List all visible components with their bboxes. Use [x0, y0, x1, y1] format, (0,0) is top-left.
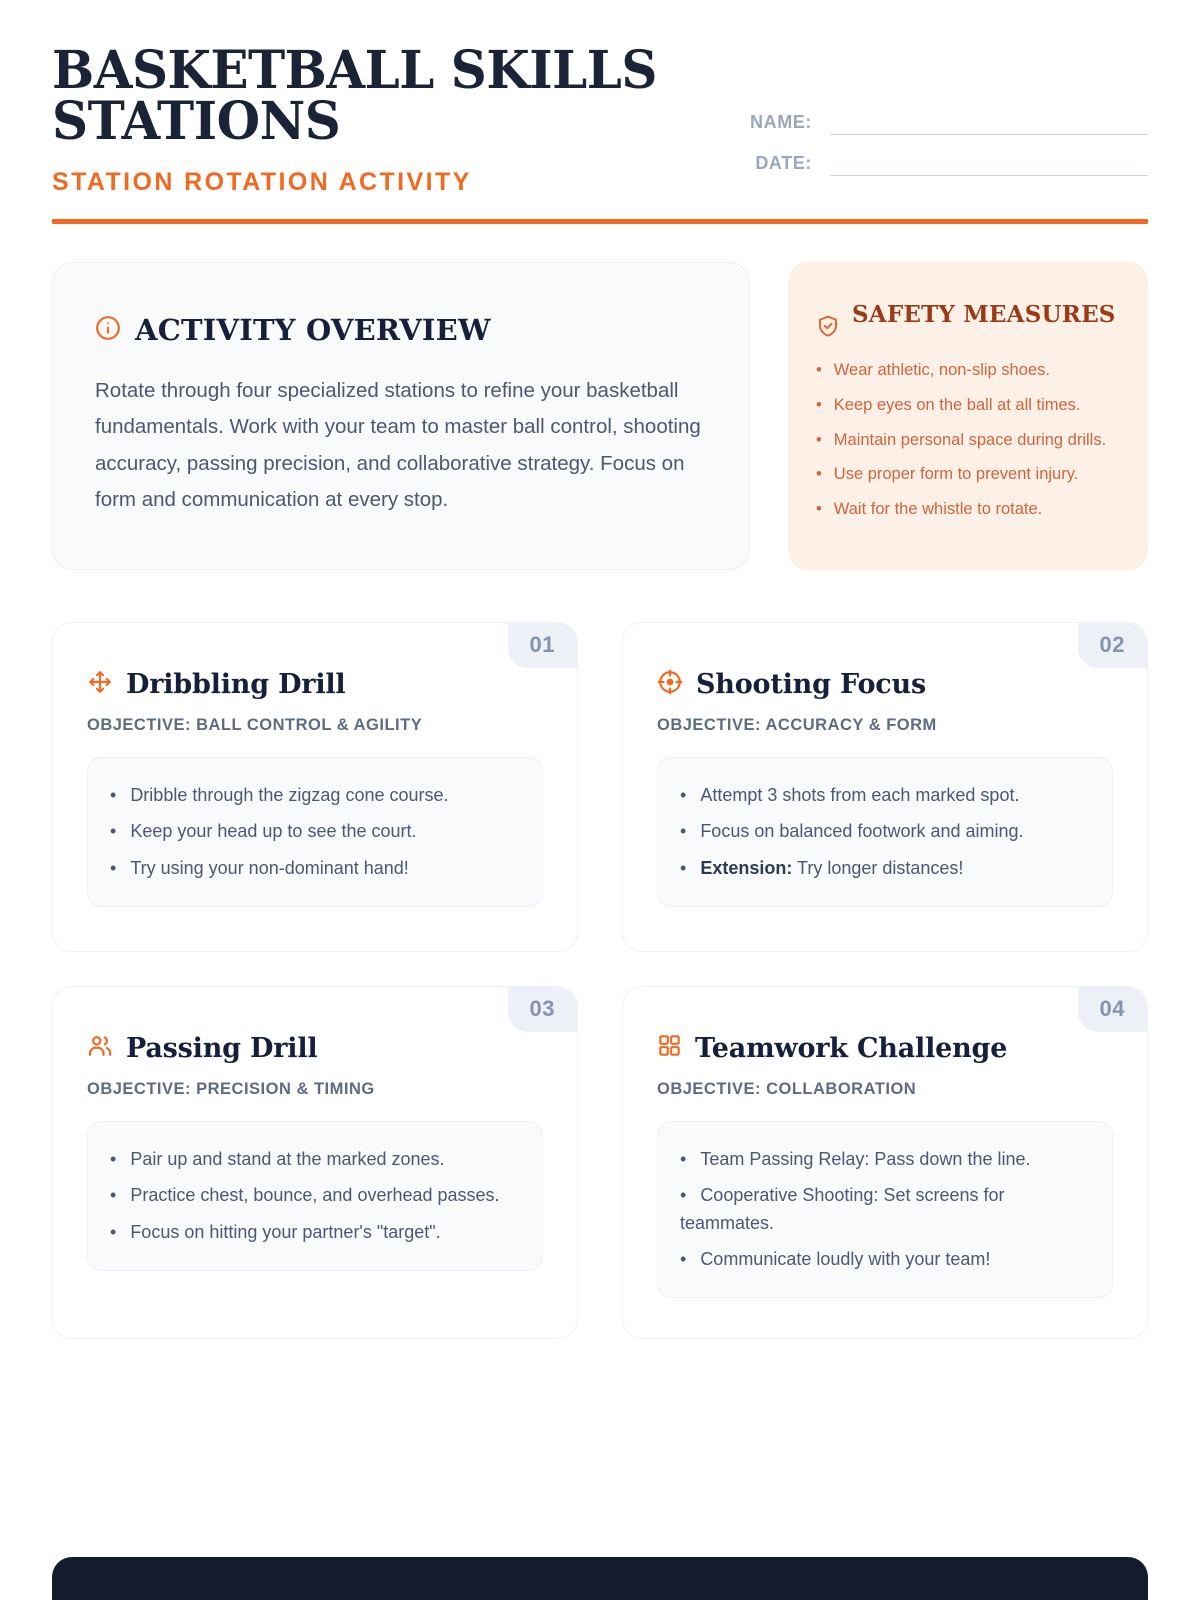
bullet-glyph: • [680, 1249, 686, 1269]
move-arrows-icon [87, 669, 113, 700]
bullet-glyph: • [680, 1149, 686, 1169]
station-header: Shooting Focus [657, 669, 1113, 700]
station-objective: OBJECTIVE: COLLABORATION [657, 1080, 1113, 1099]
date-field-label: DATE: [755, 153, 812, 176]
bullet-glyph: • [680, 821, 686, 841]
list-item-text: Try using your non-dominant hand! [130, 858, 409, 878]
bullet-glyph: • [816, 500, 822, 518]
list-item: •Try using your non-dominant hand! [110, 855, 520, 882]
bullet-glyph: • [680, 858, 686, 878]
bullet-glyph: • [110, 1185, 116, 1205]
list-item: •Wear athletic, non-slip shoes. [816, 359, 1120, 383]
station-instructions-box: •Team Passing Relay: Pass down the line.… [657, 1121, 1113, 1298]
activity-overview-body: Rotate through four specialized stations… [95, 373, 707, 519]
station-header: Teamwork Challenge [657, 1033, 1113, 1064]
station-number-badge: 04 [1078, 987, 1147, 1032]
list-item-text: Focus on hitting your partner's "target"… [130, 1222, 440, 1242]
bullet-glyph: • [110, 1149, 116, 1169]
list-item: •Communicate loudly with your team! [680, 1246, 1090, 1273]
list-item: •Team Passing Relay: Pass down the line. [680, 1146, 1090, 1173]
shield-check-icon [816, 314, 840, 343]
list-item: •Keep eyes on the ball at all times. [816, 394, 1120, 418]
list-item-text: Use proper form to prevent injury. [834, 465, 1079, 483]
name-field-row: NAME: [748, 112, 1148, 135]
station-grid: 01 Dribbling Drill OBJECTIVE: BALL CONTR… [52, 622, 1148, 1339]
date-field-row: DATE: [748, 153, 1148, 176]
list-item-text: Maintain personal space during drills. [834, 431, 1106, 449]
station-title: Teamwork Challenge [695, 1033, 1007, 1064]
users-icon [87, 1033, 113, 1064]
station-instructions-list: •Dribble through the zigzag cone course.… [110, 782, 520, 882]
bullet-glyph: • [816, 465, 822, 483]
page-title: BASKETBALL SKILLS STATIONS [52, 46, 686, 148]
list-item-text: Try longer distances! [792, 858, 963, 878]
bullet-glyph: • [110, 785, 116, 805]
list-item-text: Focus on balanced footwork and aiming. [700, 821, 1023, 841]
station-card-01: 01 Dribbling Drill OBJECTIVE: BALL CONTR… [52, 622, 578, 952]
station-number-badge: 01 [508, 623, 577, 668]
safety-measures-list: •Wear athletic, non-slip shoes. •Keep ey… [816, 359, 1120, 522]
list-item: •Keep your head up to see the court. [110, 818, 520, 845]
page-subtitle: STATION ROTATION ACTIVITY [52, 168, 712, 197]
list-item-text: Wait for the whistle to rotate. [834, 500, 1042, 518]
station-instructions-list: •Attempt 3 shots from each marked spot. … [680, 782, 1090, 882]
bullet-glyph: • [816, 396, 822, 414]
footer-bar [52, 1557, 1148, 1600]
list-item: •Pair up and stand at the marked zones. [110, 1146, 520, 1173]
list-item: •Wait for the whistle to rotate. [816, 498, 1120, 522]
activity-overview-heading: ACTIVITY OVERVIEW [135, 313, 491, 347]
station-header: Dribbling Drill [87, 669, 543, 700]
bullet-glyph: • [816, 431, 822, 449]
list-item: •Dribble through the zigzag cone course. [110, 782, 520, 809]
list-item-text: Keep eyes on the ball at all times. [834, 396, 1081, 414]
name-field-label: NAME: [750, 112, 812, 135]
station-number-badge: 02 [1078, 623, 1147, 668]
list-item-text: Keep your head up to see the court. [130, 821, 416, 841]
grid-squares-icon [657, 1033, 682, 1063]
safety-measures-header: SAFETY MEASURES [816, 300, 1120, 343]
station-instructions-box: •Pair up and stand at the marked zones. … [87, 1121, 543, 1271]
bullet-glyph: • [816, 361, 822, 379]
list-item: •Use proper form to prevent injury. [816, 463, 1120, 487]
list-item-text: Attempt 3 shots from each marked spot. [700, 785, 1019, 805]
list-item: •Practice chest, bounce, and overhead pa… [110, 1182, 520, 1209]
circle-info-icon [95, 315, 121, 346]
title-block: BASKETBALL SKILLS STATIONS STATION ROTAT… [52, 46, 712, 197]
list-item: •Focus on balanced footwork and aiming. [680, 818, 1090, 845]
station-card-02: 02 Shooting Focus OBJECTIVE: ACCURACY & … [622, 622, 1148, 952]
page-header: BASKETBALL SKILLS STATIONS STATION ROTAT… [52, 0, 1148, 218]
bullet-glyph: • [680, 1185, 686, 1205]
list-item-text: Communicate loudly with your team! [700, 1249, 990, 1269]
station-instructions-list: •Pair up and stand at the marked zones. … [110, 1146, 520, 1246]
station-instructions-box: •Attempt 3 shots from each marked spot. … [657, 757, 1113, 907]
list-item: •Extension: Try longer distances! [680, 855, 1090, 882]
list-item: •Focus on hitting your partner's "target… [110, 1219, 520, 1246]
station-objective: OBJECTIVE: BALL CONTROL & AGILITY [87, 716, 543, 735]
safety-measures-heading: SAFETY MEASURES [852, 300, 1116, 329]
list-item-text: Wear athletic, non-slip shoes. [834, 361, 1050, 379]
bullet-glyph: • [110, 1222, 116, 1242]
name-input[interactable] [830, 113, 1148, 135]
list-item: •Maintain personal space during drills. [816, 429, 1120, 453]
crosshair-icon [657, 669, 683, 700]
bullet-glyph: • [110, 821, 116, 841]
activity-overview-header: ACTIVITY OVERVIEW [95, 313, 707, 347]
bullet-glyph: • [680, 785, 686, 805]
list-item-text: Pair up and stand at the marked zones. [130, 1149, 444, 1169]
header-fields: NAME: DATE: [748, 112, 1148, 194]
station-instructions-box: •Dribble through the zigzag cone course.… [87, 757, 543, 907]
top-row: ACTIVITY OVERVIEW Rotate through four sp… [52, 262, 1148, 570]
list-item: •Cooperative Shooting: Set screens for t… [680, 1182, 1090, 1237]
list-item-text: Dribble through the zigzag cone course. [130, 785, 448, 805]
station-title: Passing Drill [126, 1033, 317, 1064]
list-item-text: Practice chest, bounce, and overhead pas… [130, 1185, 499, 1205]
list-item: •Attempt 3 shots from each marked spot. [680, 782, 1090, 809]
header-divider [52, 219, 1148, 224]
safety-measures-card: SAFETY MEASURES •Wear athletic, non-slip… [788, 262, 1148, 570]
station-header: Passing Drill [87, 1033, 543, 1064]
station-instructions-list: •Team Passing Relay: Pass down the line.… [680, 1146, 1090, 1273]
list-item-emphasis: Extension: [700, 858, 792, 878]
list-item-text: Cooperative Shooting: Set screens for te… [680, 1185, 1004, 1232]
station-card-03: 03 Passing Drill OBJECTIVE: PRECISION & … [52, 986, 578, 1339]
station-card-04: 04 Teamwork Challenge OBJECTIVE: COLLABO… [622, 986, 1148, 1339]
bullet-glyph: • [110, 858, 116, 878]
station-objective: OBJECTIVE: ACCURACY & FORM [657, 716, 1113, 735]
station-title: Shooting Focus [696, 669, 926, 700]
station-title: Dribbling Drill [126, 669, 346, 700]
station-objective: OBJECTIVE: PRECISION & TIMING [87, 1080, 543, 1099]
date-input[interactable] [830, 154, 1148, 176]
activity-overview-card: ACTIVITY OVERVIEW Rotate through four sp… [52, 262, 750, 570]
station-number-badge: 03 [508, 987, 577, 1032]
worksheet-page: BASKETBALL SKILLS STATIONS STATION ROTAT… [0, 0, 1200, 1600]
list-item-text: Team Passing Relay: Pass down the line. [700, 1149, 1030, 1169]
